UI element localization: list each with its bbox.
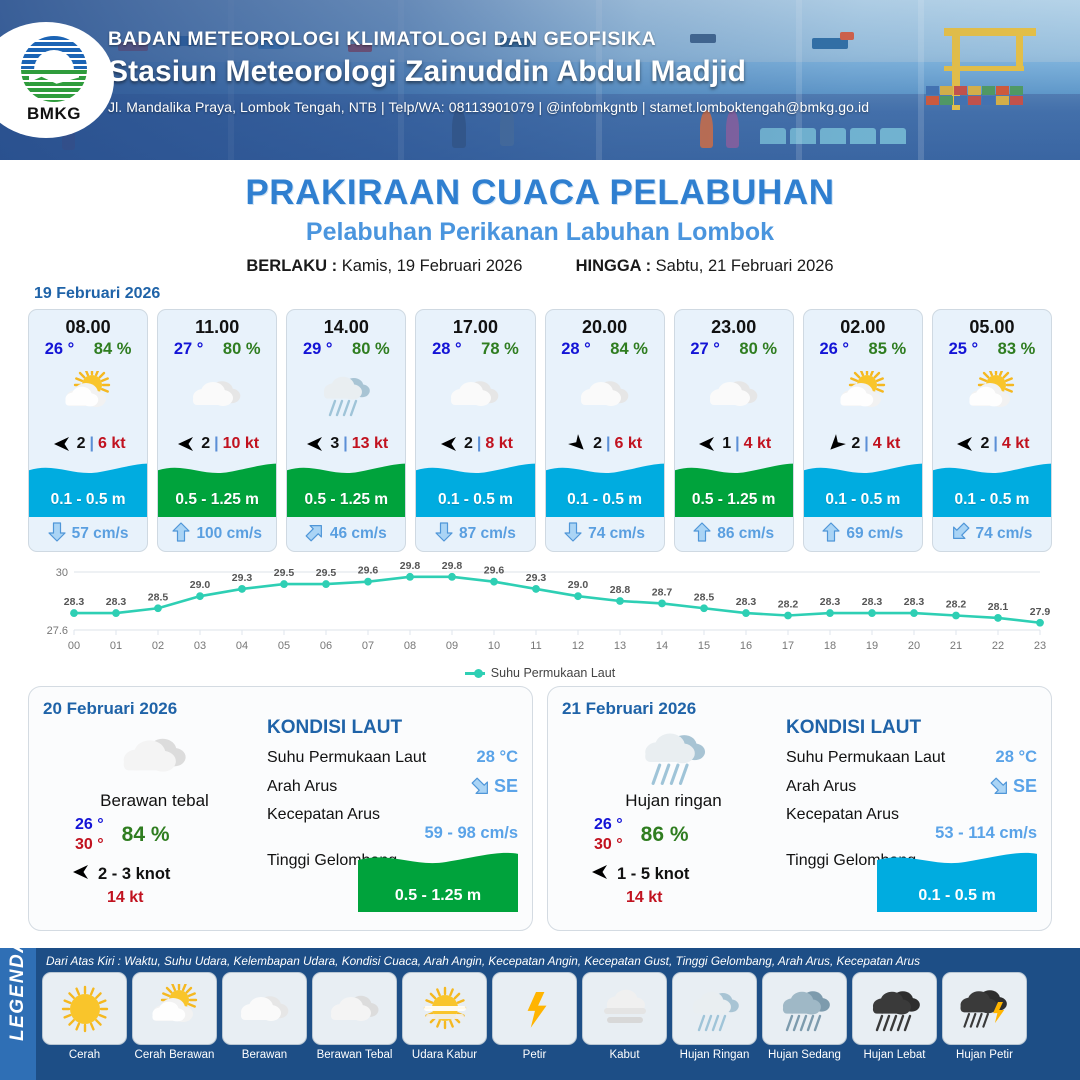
card-time: 02.00 — [804, 310, 922, 340]
daily-wind-speed: 1 - 5 knot — [617, 865, 689, 884]
card-gust: 4 kt — [744, 435, 772, 453]
legend-item: Hujan Petir — [942, 972, 1027, 1061]
arrow-nw-icon — [696, 434, 718, 454]
card-current-speed: 69 cm/s — [846, 525, 903, 543]
header-text-block: BADAN METEOROLOGI KLIMATOLOGI DAN GEOFIS… — [108, 28, 869, 115]
arrow-sw-icon — [951, 522, 969, 547]
legend-bar: LEGENDA Dari Atas Kiri : Waktu, Suhu Uda… — [0, 948, 1080, 1080]
svg-text:19: 19 — [866, 640, 878, 652]
chart-legend: Suhu Permukaan Laut — [0, 666, 1080, 680]
card-temperature: 28 ° — [432, 340, 462, 359]
hourly-forecast-row: 08.00 26 ° 84 % 2 | 6 kt 0.1 - 0.5 m 57 … — [0, 303, 1080, 552]
daily-humidity: 84 % — [122, 823, 170, 847]
arrow-nw-icon — [71, 863, 91, 886]
cerah-berawan-icon — [132, 972, 217, 1045]
card-wind: 3 | 13 kt — [287, 427, 405, 461]
legend-item-label: Kabut — [582, 1049, 667, 1061]
card-temperature: 28 ° — [561, 340, 591, 359]
card-temp-humidity: 28 ° 84 % — [546, 340, 664, 361]
card-wave: 0.1 - 0.5 m — [546, 461, 664, 517]
card-humidity: 85 % — [869, 340, 907, 359]
daily-row-label: Arah Arus — [267, 778, 337, 796]
valid-until-value: Sabtu, 21 Februari 2026 — [656, 257, 834, 275]
card-time: 23.00 — [675, 310, 793, 340]
berawan-tebal-icon — [47, 725, 262, 787]
svg-text:28.3: 28.3 — [64, 596, 85, 608]
legend-item: Hujan Lebat — [852, 972, 937, 1061]
page-header: BMKG BADAN METEOROLOGI KLIMATOLOGI DAN G… — [0, 0, 1080, 160]
card-wind-separator: | — [606, 435, 610, 453]
svg-text:02: 02 — [152, 640, 164, 652]
svg-text:06: 06 — [320, 640, 332, 652]
svg-text:29.6: 29.6 — [358, 565, 379, 577]
card-humidity: 80 % — [352, 340, 390, 359]
card-wind-scale: 2 — [593, 435, 602, 453]
card-wave: 0.1 - 0.5 m — [804, 461, 922, 517]
daily-current-direction: SE — [494, 776, 518, 797]
card-wave: 0.1 - 0.5 m — [416, 461, 534, 517]
svg-text:13: 13 — [614, 640, 626, 652]
card-wind-scale: 2 — [851, 435, 860, 453]
card-gust: 10 kt — [223, 435, 259, 453]
card-humidity: 78 % — [481, 340, 519, 359]
card-time: 05.00 — [933, 310, 1051, 340]
daily-left-block: Berawan tebal 26 ° 30 ° 84 % 2 - 3 knot … — [47, 725, 262, 907]
cerah-berawan-icon — [29, 361, 147, 427]
card-current: 87 cm/s — [416, 517, 534, 551]
forecast-day-label: 19 Februari 2026 — [34, 285, 1080, 303]
arrow-nw-icon — [51, 434, 73, 454]
daily-row: Kecepatan Arus59 - 98 cm/s — [267, 806, 518, 843]
svg-text:28.2: 28.2 — [946, 599, 967, 611]
svg-text:08: 08 — [404, 640, 416, 652]
hourly-card: 20.00 28 ° 84 % 2 | 6 kt 0.1 - 0.5 m 74 … — [545, 309, 665, 552]
card-temperature: 27 ° — [174, 340, 204, 359]
card-current: 74 cm/s — [546, 517, 664, 551]
svg-text:29.6: 29.6 — [484, 565, 505, 577]
card-wave-height: 0.1 - 0.5 m — [804, 491, 922, 509]
daily-row-label: Suhu Permukaan Laut — [267, 749, 426, 767]
card-current: 100 cm/s — [158, 517, 276, 551]
card-temp-humidity: 25 ° 83 % — [933, 340, 1051, 361]
daily-sea-block: KONDISI LAUT Suhu Permukaan Laut28 °C Ar… — [267, 717, 518, 870]
svg-text:29.8: 29.8 — [400, 560, 421, 572]
card-gust: 6 kt — [98, 435, 126, 453]
card-humidity: 80 % — [739, 340, 777, 359]
svg-text:20: 20 — [908, 640, 920, 652]
daily-row: Arah Arus SE — [267, 776, 518, 797]
card-wind: 2 | 4 kt — [804, 427, 922, 461]
card-wind: 2 | 8 kt — [416, 427, 534, 461]
svg-text:28.7: 28.7 — [652, 586, 673, 598]
svg-text:28.5: 28.5 — [148, 591, 169, 603]
sea-temperature-chart: 3027.60001020304050607080910111213141516… — [28, 560, 1052, 668]
daily-date: 21 Februari 2026 — [562, 699, 1037, 719]
legend-item-label: Berawan Tebal — [312, 1049, 397, 1061]
page-subtitle: Pelabuhan Perikanan Labuhan Lombok — [0, 218, 1080, 247]
svg-text:09: 09 — [446, 640, 458, 652]
card-wind: 2 | 10 kt — [158, 427, 276, 461]
svg-text:28.3: 28.3 — [736, 596, 757, 608]
svg-text:27.6: 27.6 — [47, 625, 68, 637]
arrow-ne-icon — [306, 522, 324, 547]
arrow-nw-icon — [954, 434, 976, 454]
legend-note: Dari Atas Kiri : Waktu, Suhu Udara, Kele… — [42, 952, 1074, 972]
card-wave: 0.5 - 1.25 m — [675, 461, 793, 517]
berawan-icon — [675, 361, 793, 427]
svg-text:29.5: 29.5 — [274, 567, 295, 579]
svg-text:15: 15 — [698, 640, 710, 652]
daily-left-block: Hujan ringan 26 ° 30 ° 86 % 1 - 5 knot 1… — [566, 725, 781, 907]
card-temperature: 27 ° — [690, 340, 720, 359]
contact-info: Jl. Mandalika Praya, Lombok Tengah, NTB … — [108, 99, 869, 115]
svg-text:29.8: 29.8 — [442, 560, 463, 572]
svg-text:18: 18 — [824, 640, 836, 652]
svg-text:22: 22 — [992, 640, 1004, 652]
card-current-speed: 57 cm/s — [72, 525, 129, 543]
arrow-nw-icon — [438, 434, 460, 454]
card-time: 11.00 — [158, 310, 276, 340]
daily-wind-speed: 2 - 3 knot — [98, 865, 170, 884]
card-current: 86 cm/s — [675, 517, 793, 551]
svg-text:28.3: 28.3 — [820, 596, 841, 608]
svg-text:28.3: 28.3 — [106, 596, 127, 608]
card-wind-scale: 3 — [330, 435, 339, 453]
arrow-down-icon — [48, 522, 66, 547]
daily-wind: 1 - 5 knot — [566, 863, 781, 886]
card-gust: 4 kt — [1002, 435, 1030, 453]
daily-row: Arah Arus SE — [786, 776, 1037, 797]
card-wind-separator: | — [993, 435, 997, 453]
daily-temp-max: 30 ° — [594, 835, 623, 855]
card-wave-height: 0.1 - 0.5 m — [933, 491, 1051, 509]
daily-gust: 14 kt — [47, 889, 262, 907]
card-gust: 6 kt — [614, 435, 642, 453]
hourly-card: 17.00 28 ° 78 % 2 | 8 kt 0.1 - 0.5 m 87 … — [415, 309, 535, 552]
svg-text:23: 23 — [1034, 640, 1046, 652]
hourly-card: 02.00 26 ° 85 % 2 | 4 kt 0.1 - 0.5 m 69 … — [803, 309, 923, 552]
legend-item: Berawan — [222, 972, 307, 1061]
card-time: 20.00 — [546, 310, 664, 340]
card-gust: 13 kt — [352, 435, 388, 453]
legend-item-label: Petir — [492, 1049, 577, 1061]
svg-text:29.3: 29.3 — [526, 572, 547, 584]
berawan-icon — [416, 361, 534, 427]
card-wave-height: 0.5 - 1.25 m — [675, 491, 793, 509]
legend-item-label: Hujan Sedang — [762, 1049, 847, 1061]
legend-item: Hujan Sedang — [762, 972, 847, 1061]
cerah-icon — [42, 972, 127, 1045]
daily-wave-height: 0.5 - 1.25 m — [358, 887, 518, 905]
daily-forecast-row: 20 Februari 2026 Berawan tebal 26 ° 30 °… — [0, 680, 1080, 931]
card-current-speed: 74 cm/s — [975, 525, 1032, 543]
berawan-icon — [222, 972, 307, 1045]
daily-temp-max: 30 ° — [75, 835, 104, 855]
daily-wave-height: 0.1 - 0.5 m — [877, 887, 1037, 905]
daily-temp-humidity: 26 ° 30 ° 84 % — [47, 815, 262, 855]
card-current-speed: 46 cm/s — [330, 525, 387, 543]
svg-text:07: 07 — [362, 640, 374, 652]
valid-from-label: BERLAKU : — [246, 257, 337, 275]
hourly-card: 23.00 27 ° 80 % 1 | 4 kt 0.5 - 1.25 m 86… — [674, 309, 794, 552]
card-wind-separator: | — [343, 435, 347, 453]
card-wave-height: 0.1 - 0.5 m — [546, 491, 664, 509]
daily-temps: 26 ° 30 ° — [594, 815, 623, 855]
chart-canvas: 3027.60001020304050607080910111213141516… — [28, 560, 1052, 660]
daily-temp-min: 26 ° — [75, 815, 104, 835]
card-wind-separator: | — [735, 435, 739, 453]
card-wind-scale: 1 — [722, 435, 731, 453]
card-temperature: 26 ° — [45, 340, 75, 359]
valid-from-value: Kamis, 19 Februari 2026 — [342, 257, 523, 275]
card-temp-humidity: 27 ° 80 % — [158, 340, 276, 361]
daily-row-label: Suhu Permukaan Laut — [786, 749, 945, 767]
card-current: 74 cm/s — [933, 517, 1051, 551]
daily-condition: Berawan tebal — [47, 791, 262, 811]
daily-sea-title: KONDISI LAUT — [786, 717, 1037, 739]
card-wind-separator: | — [864, 435, 868, 453]
daily-wave: 0.1 - 0.5 m — [877, 850, 1037, 912]
svg-text:28.3: 28.3 — [862, 596, 883, 608]
hujan-petir-icon — [942, 972, 1027, 1045]
card-wind-separator: | — [89, 435, 93, 453]
card-time: 08.00 — [29, 310, 147, 340]
legend-label: Suhu Permukaan Laut — [491, 666, 615, 680]
petir-icon — [492, 972, 577, 1045]
arrow-se-icon: SE — [991, 776, 1037, 797]
card-humidity: 83 % — [998, 340, 1036, 359]
daily-wind: 2 - 3 knot — [47, 863, 262, 886]
hujan-ringan-icon — [672, 972, 757, 1045]
card-temp-humidity: 26 ° 84 % — [29, 340, 147, 361]
hourly-card: 11.00 27 ° 80 % 2 | 10 kt 0.5 - 1.25 m 1… — [157, 309, 277, 552]
daily-row-label: Kecepatan Arus — [267, 806, 380, 824]
daily-temp-min: 26 ° — [594, 815, 623, 835]
card-temperature: 29 ° — [303, 340, 333, 359]
svg-text:28.5: 28.5 — [694, 591, 715, 603]
svg-text:27.9: 27.9 — [1030, 606, 1051, 618]
legend-content: Dari Atas Kiri : Waktu, Suhu Udara, Kele… — [36, 948, 1080, 1080]
berawan-icon — [546, 361, 664, 427]
card-temp-humidity: 28 ° 78 % — [416, 340, 534, 361]
daily-date: 20 Februari 2026 — [43, 699, 518, 719]
svg-text:05: 05 — [278, 640, 290, 652]
daily-humidity: 86 % — [641, 823, 689, 847]
daily-row: Suhu Permukaan Laut28 °C — [267, 748, 518, 767]
legend-item: Berawan Tebal — [312, 972, 397, 1061]
card-temp-humidity: 26 ° 85 % — [804, 340, 922, 361]
arrow-east-icon — [567, 434, 589, 454]
berawan-tebal-icon — [312, 972, 397, 1045]
svg-text:28.3: 28.3 — [904, 596, 925, 608]
daily-condition: Hujan ringan — [566, 791, 781, 811]
legend-item-label: Berawan — [222, 1049, 307, 1061]
kabut-icon — [582, 972, 667, 1045]
legend-item: Cerah — [42, 972, 127, 1061]
card-wave-height: 0.1 - 0.5 m — [29, 491, 147, 509]
title-section: PRAKIRAAN CUACA PELABUHAN Pelabuhan Peri… — [0, 160, 1080, 276]
bmkg-logo-mark — [21, 36, 87, 102]
hourly-card: 14.00 29 ° 80 % 3 | 13 kt 0.5 - 1.25 m 4… — [286, 309, 406, 552]
legend-marker — [474, 669, 483, 678]
card-wind-scale: 2 — [201, 435, 210, 453]
daily-row: Suhu Permukaan Laut28 °C — [786, 748, 1037, 767]
svg-text:28.1: 28.1 — [988, 601, 1009, 613]
card-wind-separator: | — [214, 435, 218, 453]
card-time: 14.00 — [287, 310, 405, 340]
card-current-speed: 87 cm/s — [459, 525, 516, 543]
daily-forecast-card: 21 Februari 2026 Hujan ringan 26 ° 30 ° … — [547, 686, 1052, 931]
bmkg-logo-text: BMKG — [27, 104, 81, 124]
svg-text:29.0: 29.0 — [190, 579, 211, 591]
arrow-se-icon: SE — [472, 776, 518, 797]
card-wave-height: 0.5 - 1.25 m — [158, 491, 276, 509]
card-wind-scale: 2 — [464, 435, 473, 453]
card-wind: 2 | 6 kt — [546, 427, 664, 461]
udara-kabur-icon — [402, 972, 487, 1045]
legend-item-list: Cerah Cerah Berawan Berawan Berawan Teba… — [42, 972, 1074, 1061]
daily-sea-block: KONDISI LAUT Suhu Permukaan Laut28 °C Ar… — [786, 717, 1037, 870]
arrow-up-icon — [693, 522, 711, 547]
card-wave: 0.5 - 1.25 m — [158, 461, 276, 517]
card-wind-separator: | — [477, 435, 481, 453]
cerah-berawan-icon — [933, 361, 1051, 427]
arrow-nw-icon — [175, 434, 197, 454]
card-current: 69 cm/s — [804, 517, 922, 551]
daily-forecast-card: 20 Februari 2026 Berawan tebal 26 ° 30 °… — [28, 686, 533, 931]
svg-text:29.5: 29.5 — [316, 567, 337, 579]
hujan-ringan-icon — [287, 361, 405, 427]
card-temp-humidity: 27 ° 80 % — [675, 340, 793, 361]
svg-text:30: 30 — [56, 567, 68, 579]
svg-text:14: 14 — [656, 640, 668, 652]
legend-item-label: Udara Kabur — [402, 1049, 487, 1061]
daily-row-label: Arah Arus — [786, 778, 856, 796]
svg-text:21: 21 — [950, 640, 962, 652]
svg-text:17: 17 — [782, 640, 794, 652]
legend-side-title: LEGENDA — [0, 948, 36, 1080]
svg-text:29.0: 29.0 — [568, 579, 589, 591]
card-humidity: 84 % — [94, 340, 132, 359]
hourly-card: 05.00 25 ° 83 % 2 | 4 kt 0.1 - 0.5 m 74 … — [932, 309, 1052, 552]
cerah-berawan-icon — [804, 361, 922, 427]
validity-line: BERLAKU : Kamis, 19 Februari 2026 HINGGA… — [0, 257, 1080, 276]
card-current-speed: 100 cm/s — [196, 525, 262, 543]
card-current: 57 cm/s — [29, 517, 147, 551]
daily-wave: 0.5 - 1.25 m — [358, 850, 518, 912]
card-wave-height: 0.5 - 1.25 m — [287, 491, 405, 509]
card-wave: 0.1 - 0.5 m — [29, 461, 147, 517]
card-wind-scale: 2 — [77, 435, 86, 453]
svg-text:28.2: 28.2 — [778, 599, 799, 611]
card-temperature: 25 ° — [949, 340, 979, 359]
organization-name: BADAN METEOROLOGI KLIMATOLOGI DAN GEOFIS… — [108, 28, 869, 51]
card-temp-humidity: 29 ° 80 % — [287, 340, 405, 361]
legend-item-label: Cerah — [42, 1049, 127, 1061]
arrow-nw-icon — [590, 863, 610, 886]
svg-text:28.8: 28.8 — [610, 584, 631, 596]
hourly-card: 08.00 26 ° 84 % 2 | 6 kt 0.1 - 0.5 m 57 … — [28, 309, 148, 552]
station-name: Stasiun Meteorologi Zainuddin Abdul Madj… — [108, 55, 869, 89]
legend-item: Kabut — [582, 972, 667, 1061]
svg-text:10: 10 — [488, 640, 500, 652]
card-gust: 8 kt — [485, 435, 513, 453]
daily-row-value: 28 °C — [996, 748, 1037, 767]
card-current: 46 cm/s — [287, 517, 405, 551]
svg-text:03: 03 — [194, 640, 206, 652]
arrow-up-icon — [822, 522, 840, 547]
hujan-sedang-icon — [762, 972, 847, 1045]
legend-item: Cerah Berawan — [132, 972, 217, 1061]
card-gust: 4 kt — [873, 435, 901, 453]
legend-item: Petir — [492, 972, 577, 1061]
card-wave-height: 0.1 - 0.5 m — [416, 491, 534, 509]
legend-item-label: Cerah Berawan — [132, 1049, 217, 1061]
berawan-icon — [158, 361, 276, 427]
legend-item-label: Hujan Lebat — [852, 1049, 937, 1061]
card-current-speed: 86 cm/s — [717, 525, 774, 543]
hujan-ringan-icon — [566, 725, 781, 787]
page-title: PRAKIRAAN CUACA PELABUHAN — [0, 173, 1080, 213]
svg-text:29.3: 29.3 — [232, 572, 253, 584]
svg-text:01: 01 — [110, 640, 122, 652]
card-wave: 0.5 - 1.25 m — [287, 461, 405, 517]
daily-temps: 26 ° 30 ° — [75, 815, 104, 855]
daily-sea-title: KONDISI LAUT — [267, 717, 518, 739]
card-wind: 1 | 4 kt — [675, 427, 793, 461]
daily-current-direction: SE — [1013, 776, 1037, 797]
hujan-lebat-icon — [852, 972, 937, 1045]
svg-text:11: 11 — [530, 640, 541, 652]
card-current-speed: 74 cm/s — [588, 525, 645, 543]
valid-until-label: HINGGA : — [576, 257, 651, 275]
card-wind: 2 | 6 kt — [29, 427, 147, 461]
card-humidity: 80 % — [223, 340, 261, 359]
card-humidity: 84 % — [610, 340, 648, 359]
arrow-up-icon — [172, 522, 190, 547]
legend-item: Hujan Ringan — [672, 972, 757, 1061]
daily-row-value: 53 - 114 cm/s — [935, 824, 1037, 843]
daily-temp-humidity: 26 ° 30 ° 86 % — [566, 815, 781, 855]
legend-item-label: Hujan Petir — [942, 1049, 1027, 1061]
legend-item: Udara Kabur — [402, 972, 487, 1061]
card-wind: 2 | 4 kt — [933, 427, 1051, 461]
card-wind-scale: 2 — [980, 435, 989, 453]
daily-row-label: Kecepatan Arus — [786, 806, 899, 824]
arrow-down-icon — [435, 522, 453, 547]
arrow-down-icon — [564, 522, 582, 547]
svg-text:04: 04 — [236, 640, 248, 652]
daily-row-value: 59 - 98 cm/s — [424, 824, 518, 843]
card-time: 17.00 — [416, 310, 534, 340]
svg-text:00: 00 — [68, 640, 80, 652]
daily-row: Kecepatan Arus53 - 114 cm/s — [786, 806, 1037, 843]
svg-text:12: 12 — [572, 640, 584, 652]
card-temperature: 26 ° — [819, 340, 849, 359]
svg-text:16: 16 — [740, 640, 752, 652]
card-wave: 0.1 - 0.5 m — [933, 461, 1051, 517]
daily-row-value: 28 °C — [477, 748, 518, 767]
arrow-south-icon — [825, 434, 847, 454]
legend-item-label: Hujan Ringan — [672, 1049, 757, 1061]
daily-gust: 14 kt — [566, 889, 781, 907]
arrow-nw-icon — [304, 434, 326, 454]
